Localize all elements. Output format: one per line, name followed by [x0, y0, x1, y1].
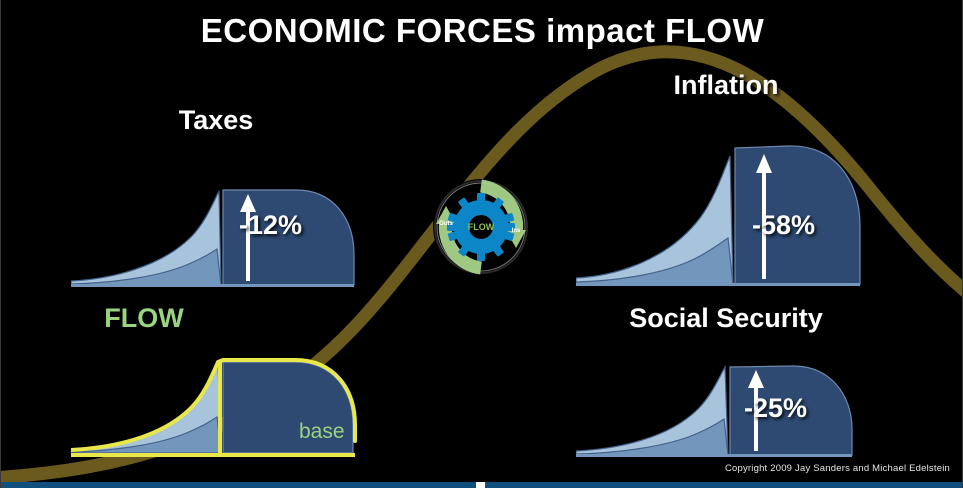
panel-flow: FLOW base	[71, 303, 361, 468]
panel-social-security: Social Security -25%	[576, 303, 876, 468]
bottom-progress-tick[interactable]	[476, 482, 485, 488]
gear-outs-label: Outs	[439, 221, 453, 227]
gear-center-label: FLOW	[468, 222, 495, 232]
copyright-notice: Copyright 2009 Jay Sanders and Michael E…	[725, 463, 950, 474]
page-title: ECONOMIC FORCES impact FLOW	[1, 12, 963, 50]
chart-social-security	[576, 353, 876, 465]
gear-ins-label: Ins	[512, 228, 521, 234]
flow-gear-badge[interactable]: FLOW Ins Outs	[426, 172, 536, 282]
panel-inflation: Inflation -58%	[576, 70, 876, 295]
slide-canvas: ECONOMIC FORCES impact FLOW Taxes -12% F…	[0, 0, 963, 488]
chart-inflation	[576, 118, 876, 294]
panel-taxes: Taxes -12%	[71, 105, 361, 295]
chart-taxes	[71, 163, 361, 295]
panel-title-taxes: Taxes	[71, 105, 361, 136]
panel-title-inflation: Inflation	[576, 70, 876, 101]
panel-title-social-security: Social Security	[576, 303, 876, 334]
panel-title-flow: FLOW	[0, 303, 289, 334]
chart-flow	[71, 345, 361, 465]
